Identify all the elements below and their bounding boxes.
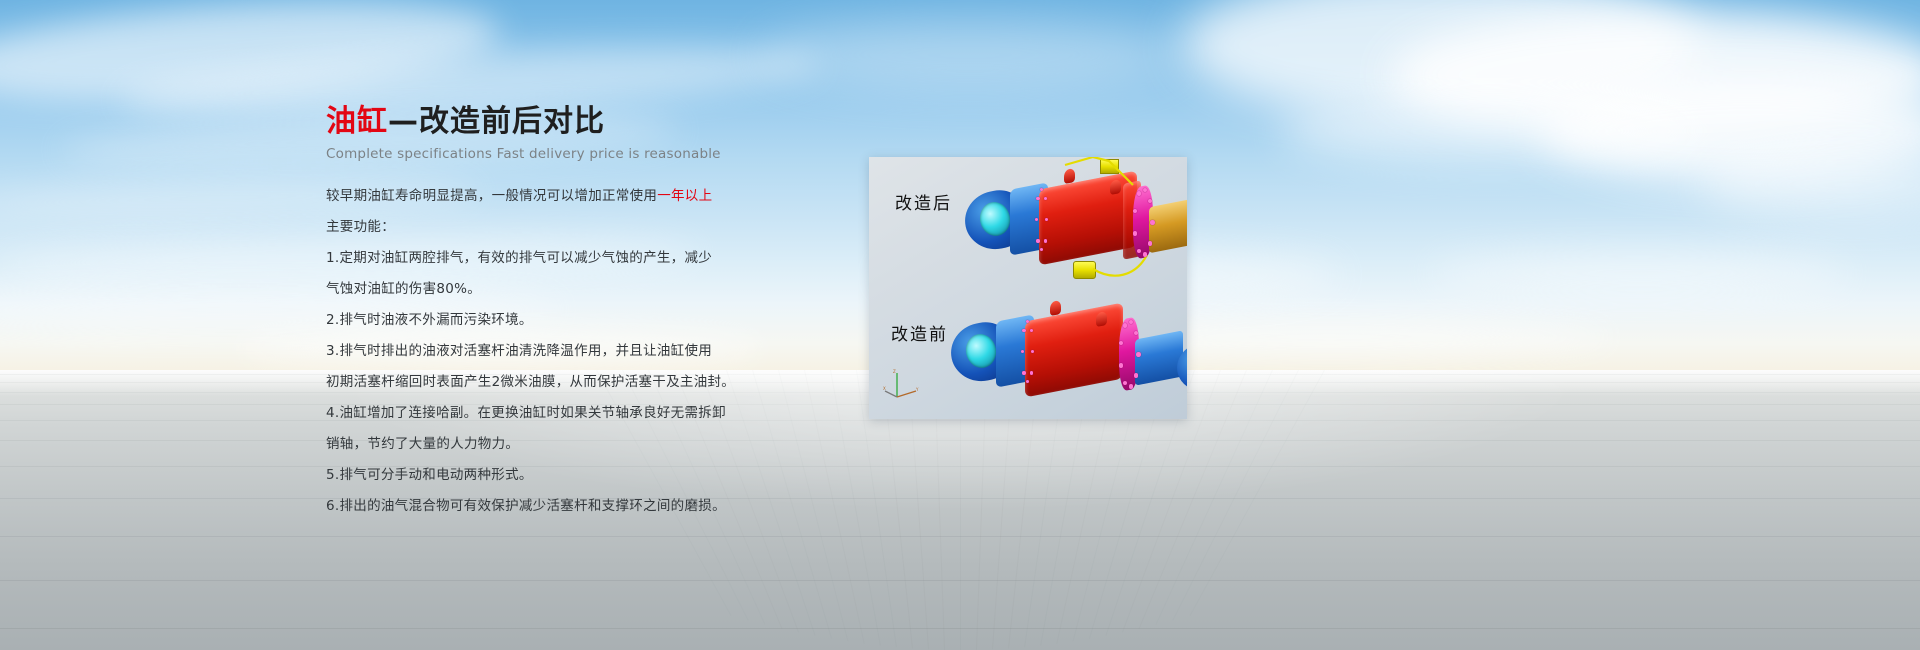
body-line: 3.排气时排出的油液对活塞杆油清洗降温作用，并且让油缸使用: [326, 339, 746, 364]
page-title: 油缸—改造前后对比: [326, 104, 746, 140]
body-line-highlight: 一年以上: [657, 188, 712, 204]
body-line-text: 气蚀对油缸的伤害80%。: [326, 281, 481, 297]
flange-stud: [1150, 220, 1155, 225]
body-line: 较早期油缸寿命明显提高，一般情况可以增加正常使用一年以上: [326, 184, 746, 209]
body-line-text: 初期活塞杆缩回时表面产生2微米油膜，从而保护活塞干及主油封。: [326, 374, 735, 390]
title-rest: —改造前后对比: [388, 104, 605, 139]
body-line: 销轴，节约了大量的人力物力。: [326, 432, 746, 457]
flange-stud: [1143, 188, 1148, 193]
body-line: 4.油缸增加了连接哈副。在更换油缸时如果关节轴承良好无需拆卸: [326, 401, 746, 426]
cap-stud: [1022, 329, 1025, 332]
flange-stud: [1133, 231, 1138, 236]
body-line-text: 销轴，节约了大量的人力物力。: [326, 436, 519, 452]
flange-stud: [1137, 191, 1142, 196]
copy-block: 油缸—改造前后对比 Complete specifications Fast d…: [326, 104, 746, 525]
cloud-puff-icon: [760, 20, 1180, 90]
flange-stud: [1123, 381, 1128, 386]
cap-stud: [1030, 329, 1033, 332]
body-line: 2.排气时油液不外漏而污染环境。: [326, 308, 746, 333]
flange-stud: [1119, 363, 1124, 368]
body-line: 主要功能：: [326, 215, 746, 240]
vent-tube-upper: [1057, 157, 1177, 207]
body-line-text: 较早期油缸寿命明显提高，一般情况可以增加正常使用: [326, 188, 657, 204]
piston-rod: [1135, 330, 1183, 385]
lifting-lug: [1096, 311, 1107, 327]
label-before-modification: 改造前: [891, 320, 948, 345]
lifting-lug: [1050, 300, 1061, 316]
cloud-puff-icon: [1280, 96, 1700, 166]
body-text: 较早期油缸寿命明显提高，一般情况可以增加正常使用一年以上主要功能：1.定期对油缸…: [326, 184, 746, 519]
body-line: 初期活塞杆缩回时表面产生2微米油膜，从而保护活塞干及主油封。: [326, 370, 746, 395]
page-subtitle: Complete specifications Fast delivery pr…: [326, 146, 746, 162]
flange-stud: [1129, 320, 1134, 325]
flange-stud: [1129, 384, 1134, 389]
cap-stud: [1022, 371, 1025, 374]
body-line: 6.排出的油气混合物可有效保护减少活塞杆和支撑环之间的磨损。: [326, 494, 746, 519]
body-line: 气蚀对油缸的伤害80%。: [326, 277, 746, 302]
cap-stud: [1044, 239, 1047, 242]
barrel: [1025, 302, 1123, 397]
cad-comparison-panel: 改造后 改造前 Z Y X: [869, 157, 1187, 419]
body-line-text: 6.排出的油气混合物可有效保护减少活塞杆和支撑环之间的磨损。: [326, 498, 726, 514]
flange-stud: [1137, 249, 1142, 254]
cloud-streak-icon: [1430, 250, 1850, 296]
title-highlight: 油缸: [326, 104, 388, 139]
cap-stud: [1036, 197, 1039, 200]
axis-triad-icon: Z Y X: [883, 369, 919, 399]
cap-stud: [1030, 371, 1033, 374]
body-line-text: 4.油缸增加了连接哈副。在更换油缸时如果关节轴承良好无需拆卸: [326, 405, 726, 421]
vent-tube-lower: [1089, 247, 1169, 287]
body-line-text: 3.排气时排出的油液对活塞杆油清洗降温作用，并且让油缸使用: [326, 343, 712, 359]
flange-stud: [1136, 352, 1141, 357]
svg-text:X: X: [883, 386, 886, 391]
cap-stud: [1044, 197, 1047, 200]
cap-stud: [1036, 239, 1039, 242]
label-after-modification: 改造后: [895, 189, 952, 214]
flange-stud: [1148, 241, 1153, 246]
flange-stud: [1143, 252, 1148, 257]
product-banner: 油缸—改造前后对比 Complete specifications Fast d…: [0, 0, 1920, 650]
body-line-text: 2.排气时油液不外漏而污染环境。: [326, 312, 533, 328]
flange-stud: [1123, 323, 1128, 328]
flange-stud: [1134, 373, 1139, 378]
body-line: 1.定期对油缸两腔排气，有效的排气可以减少气蚀的产生，减少: [326, 246, 746, 271]
svg-text:Z: Z: [893, 369, 896, 374]
body-line-text: 主要功能：: [326, 219, 395, 235]
body-line-text: 5.排气可分手动和电动两种形式。: [326, 467, 533, 483]
cylinder-before-modification: [951, 301, 1181, 411]
body-line-text: 1.定期对油缸两腔排气，有效的排气可以减少气蚀的产生，减少: [326, 250, 712, 266]
body-line: 5.排气可分手动和电动两种形式。: [326, 463, 746, 488]
svg-text:Y: Y: [915, 387, 919, 392]
cylinder-after-modification: [965, 169, 1187, 279]
